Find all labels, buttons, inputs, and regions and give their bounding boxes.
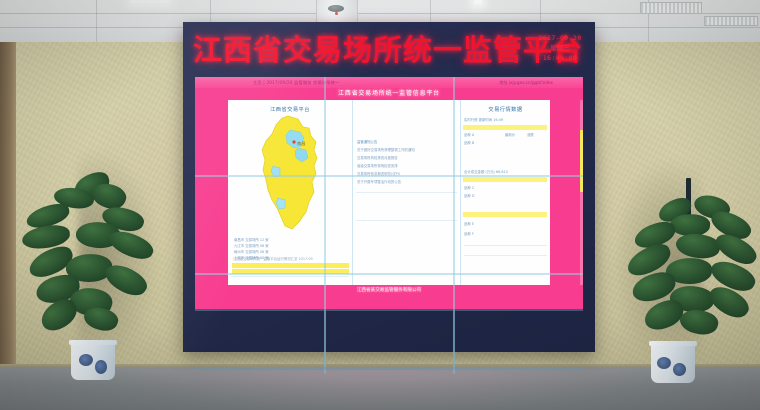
quote-row: 品种 B [464,141,474,146]
notice-item[interactable]: 关于开展专项整治行动的公告 [357,180,401,185]
panel-map: 江西省交易平台 南昌 南昌市 [228,100,353,285]
video-wall[interactable]: 江西省交易场所统一监管平台 2017-09-20 星期三 16:49:09 主页… [183,22,595,352]
air-vent-icon [704,16,758,26]
panel-quotes: 交易行情数据 实时行情 更新时间 16:49 品种 A 品种 B 合计成交金额 … [461,100,550,285]
room-scene: 江西省交易场所统一监管平台 2017-09-20 星期三 16:49:09 主页… [0,0,760,410]
browser-toolbar[interactable]: 主页 | 2017/09/20 监管服务 交易场所统一 地址 jxjy.gov.… [195,77,583,88]
notice-item[interactable]: 交易场所风险排查月度报告 [357,156,398,161]
porcelain-pot [651,341,695,383]
jiangxi-map-icon[interactable]: 南昌 [254,114,332,232]
highlight-band [463,125,547,130]
quote-row: 品种 C [464,186,474,191]
quote-row: 品种 A [464,133,474,138]
page-scrollbar[interactable] [580,100,583,285]
page-content-card: 江西省交易平台 南昌 南昌市 [228,100,550,285]
notice-title: 监管通知公告 [357,140,377,145]
quote-row: 品种 F [464,232,474,237]
map-row-label: 南昌市 交易场所 12 家 [234,238,269,243]
highlight-band [463,212,547,217]
map-row-label: 九江市 交易场所 06 家 [234,244,269,249]
panel-quotes-header: 交易行情数据 [461,106,550,113]
quote-row: 品种 E [464,222,474,227]
potted-plant-right [610,178,760,383]
quotes-subcaption: 实时行情 更新时间 16:49 [464,118,503,123]
video-wall-clock: 2017-09-20 星期三 16:49:09 [531,33,589,63]
video-wall-title: 江西省交易场所统一监管平台 [193,29,545,71]
quotes-table-header: 最新价 [505,133,515,138]
browser-toolbar-left-text: 主页 | 2017/09/20 监管服务 交易场所统一 [253,79,340,87]
notice-item[interactable]: 省级交易场所现场检查安排 [357,164,398,169]
wall-trim-left [0,42,16,372]
potted-plant-left [18,172,168,380]
clock-weekday: 星期三 [531,43,589,53]
ceiling-speaker-icon [328,5,344,12]
quotes-subcaption2: 合计成交金额 (万元) 66,813 [464,170,508,175]
highlight-band [232,269,349,274]
clock-time: 16:49:09 [531,53,589,63]
quotes-table-header: 涨跌 [527,133,534,138]
quote-row: 品种 D [464,194,474,199]
highlight-band [463,177,547,182]
smoke-detector-icon [335,12,338,15]
screen-canvas[interactable]: 主页 | 2017/09/20 监管服务 交易场所统一 地址 jxjy.gov.… [195,77,583,309]
video-wall-header: 江西省交易场所统一监管平台 2017-09-20 星期三 16:49:09 [183,22,595,76]
map-row-label: 赣州市 交易场所 08 家 [234,250,269,255]
notice-item[interactable]: 交易场所信息报送规范(试行) [357,172,400,177]
clock-date: 2017-09-20 [531,33,589,43]
ceiling-light [474,0,482,4]
browser-address-text[interactable]: 地址 jxjy.gov.cn/jgpt/index [499,79,553,87]
page-scrollbar-thumb[interactable] [580,130,583,192]
panel-map-header: 江西省交易平台 [228,106,352,113]
page-footer-text: 江西省某交易监管服务有限公司 [195,286,583,296]
page-banner-title: 江西省交易场所统一监管信息平台 [195,88,583,99]
ceiling-light [130,0,170,3]
panel-notices: 监管通知公告 关于做好交易场所清理整顿工作的通知 交易场所风险排查月度报告 省级… [353,100,461,285]
porcelain-pot [71,340,115,380]
air-vent-icon [640,2,702,14]
map-summary-caption: 江西省交易场所统一监管平台运行情况汇总 2017-09 [233,257,313,262]
notice-item[interactable]: 关于做好交易场所清理整顿工作的通知 [357,148,415,153]
svg-text:南昌: 南昌 [297,140,305,147]
highlight-band [232,263,349,268]
